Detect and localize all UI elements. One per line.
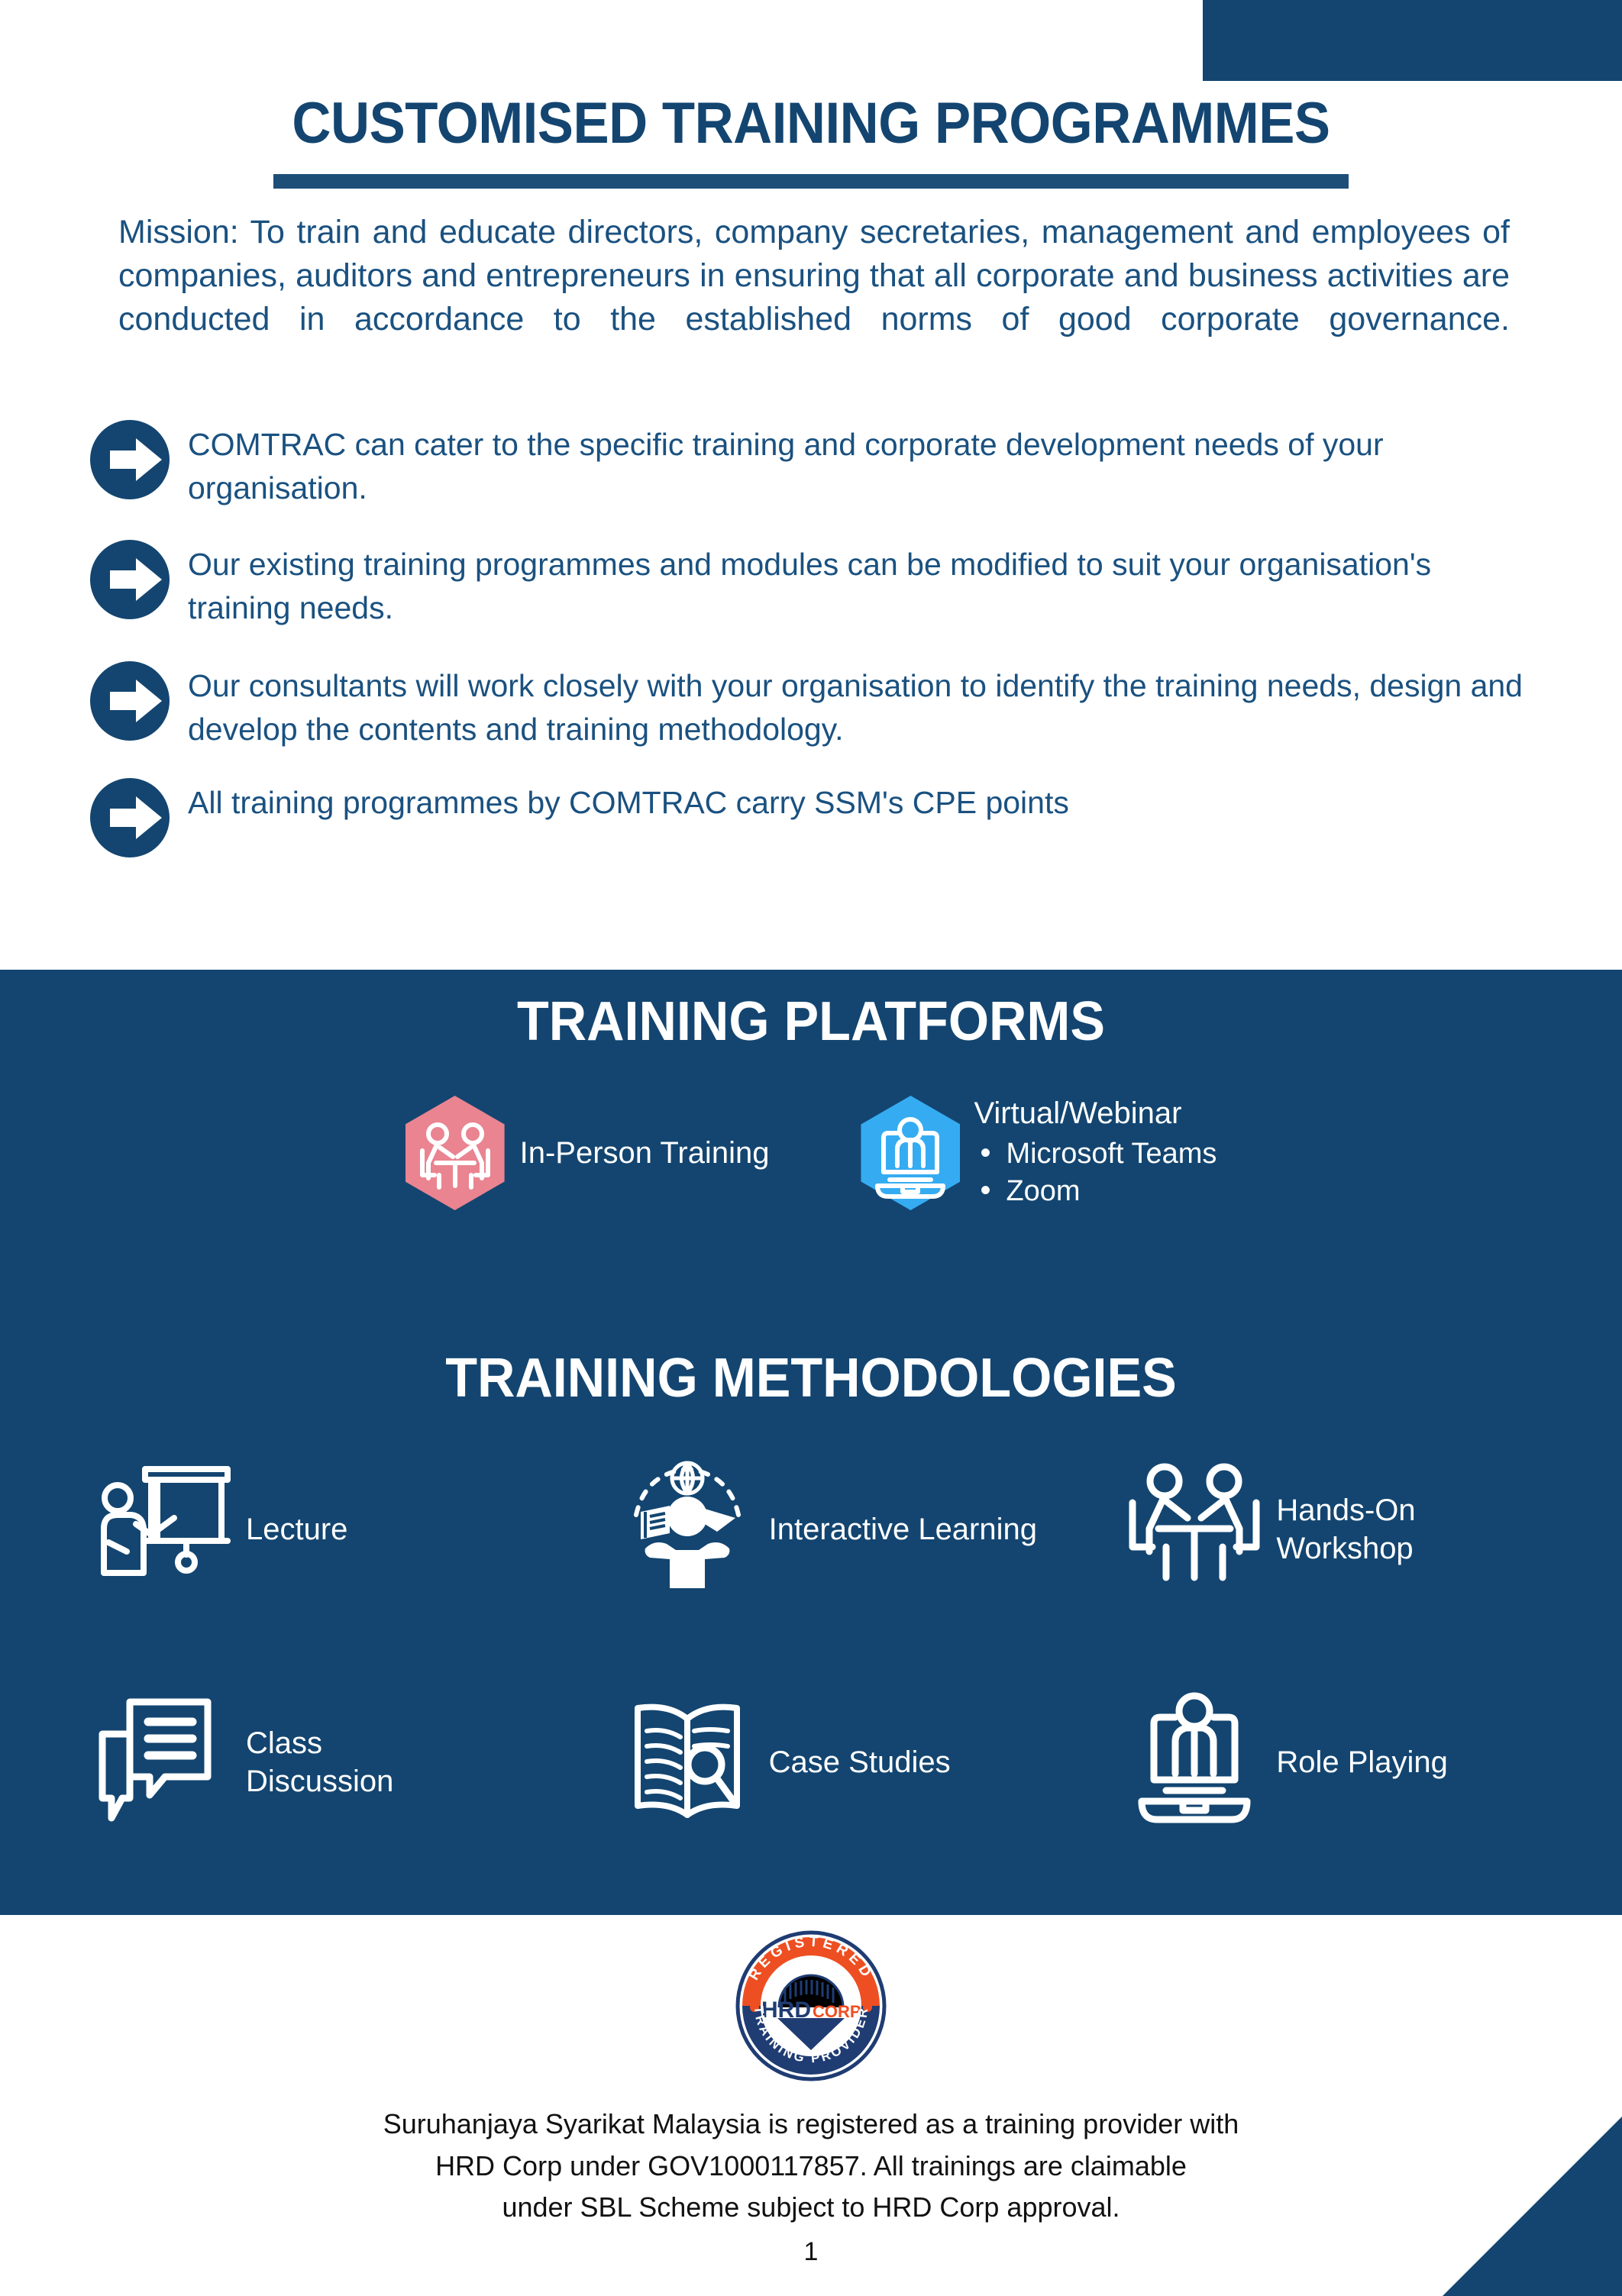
- open-book-magnifier-icon: [615, 1691, 760, 1833]
- methodology-label: Interactive Learning: [769, 1510, 1037, 1548]
- bullet-text: All training programmes by COMTRAC carry…: [188, 778, 1069, 825]
- platform-virtual-details: Virtual/Webinar Microsoft Teams Zoom: [974, 1096, 1216, 1209]
- hrd-corp-registered-training-provider-logo: HRD CORP REGISTERED TRAINING PROVIDER: [733, 1928, 889, 2084]
- training-platforms-row: In-Person Training: [0, 1096, 1622, 1210]
- footer-line-1: Suruhanjaya Syarikat Malaysia is registe…: [0, 2104, 1622, 2146]
- methodology-label: Hands-On Workshop: [1276, 1491, 1415, 1568]
- methodology-item-lecture: Lecture: [0, 1458, 592, 1600]
- methodologies-row-2: Class Discussion: [0, 1691, 1622, 1833]
- bullet-text: Our consultants will work closely with y…: [188, 661, 1541, 751]
- methodologies-row-1: Lecture: [0, 1458, 1622, 1600]
- navy-content-band: TRAINING PLATFORMS: [0, 970, 1622, 1915]
- platform-label: In-Person Training: [520, 1136, 770, 1171]
- platform-sub-list: Microsoft Teams Zoom: [974, 1135, 1216, 1209]
- svg-text:CORP: CORP: [813, 2002, 861, 2021]
- platform-item-in-person: In-Person Training: [405, 1096, 770, 1210]
- two-people-at-table-icon: [405, 1096, 505, 1210]
- speech-bubbles-icon: [92, 1691, 237, 1833]
- footer-line-2: HRD Corp under GOV1000117857. All traini…: [0, 2146, 1622, 2188]
- arrow-right-circle-icon: [90, 661, 170, 741]
- poster-page: CUSTOMISED TRAINING PROGRAMMES Mission: …: [0, 0, 1622, 2296]
- methodology-label: Case Studies: [769, 1743, 951, 1781]
- two-people-workshop-icon: [1122, 1458, 1267, 1600]
- list-item: Our consultants will work closely with y…: [90, 661, 1541, 751]
- footer-disclaimer: Suruhanjaya Syarikat Malaysia is registe…: [0, 2104, 1622, 2229]
- mission-statement: Mission: To train and educate directors,…: [118, 211, 1510, 384]
- svg-text:HRD: HRD: [761, 1997, 811, 2023]
- list-item: COMTRAC can cater to the specific traini…: [90, 420, 1541, 509]
- platform-label: Virtual/Webinar: [974, 1096, 1181, 1130]
- page-title: CUSTOMISED TRAINING PROGRAMMES: [57, 90, 1565, 157]
- methodology-item-role-playing: Role Playing: [1114, 1691, 1622, 1833]
- person-on-laptop-icon: [861, 1096, 960, 1210]
- methodology-item-class-discussion: Class Discussion: [0, 1691, 592, 1833]
- person-laptop-icon: [1122, 1691, 1267, 1833]
- training-methodologies-heading: TRAINING METHODOLOGIES: [40, 1347, 1582, 1410]
- methodology-label: Lecture: [246, 1510, 347, 1548]
- list-item: Our existing training programmes and mod…: [90, 540, 1541, 629]
- methodology-label: Role Playing: [1276, 1743, 1448, 1781]
- page-title-wrap: CUSTOMISED TRAINING PROGRAMMES: [0, 90, 1622, 157]
- methodology-item-case-studies: Case Studies: [592, 1691, 1115, 1833]
- training-platforms-heading: TRAINING PLATFORMS: [40, 990, 1582, 1053]
- methodology-label: Class Discussion: [246, 1724, 393, 1800]
- presenter-whiteboard-icon: [92, 1458, 237, 1600]
- methodology-item-hands-on-workshop: Hands-On Workshop: [1114, 1458, 1622, 1600]
- bullet-text: COMTRAC can cater to the specific traini…: [188, 420, 1541, 509]
- title-underline-rule: [273, 174, 1349, 189]
- platform-item-virtual: Virtual/Webinar Microsoft Teams Zoom: [861, 1096, 1216, 1210]
- methodologies-grid: Lecture: [0, 1458, 1622, 1833]
- bullet-text: Our existing training programmes and mod…: [188, 540, 1541, 629]
- arrow-right-circle-icon: [90, 540, 170, 619]
- list-item: Zoom: [974, 1173, 1216, 1210]
- bullet-list: COMTRAC can cater to the specific traini…: [90, 420, 1541, 857]
- footer-line-3: under SBL Scheme subject to HRD Corp app…: [0, 2187, 1622, 2229]
- arrow-right-circle-icon: [90, 778, 170, 857]
- arrow-right-circle-icon: [90, 420, 170, 499]
- top-right-corner-decoration: [1203, 0, 1622, 81]
- list-item: Microsoft Teams: [974, 1135, 1216, 1173]
- page-number: 1: [0, 2237, 1622, 2267]
- person-globe-book-cap-icon: [615, 1458, 760, 1600]
- list-item: All training programmes by COMTRAC carry…: [90, 778, 1541, 857]
- methodology-item-interactive-learning: Interactive Learning: [592, 1458, 1115, 1600]
